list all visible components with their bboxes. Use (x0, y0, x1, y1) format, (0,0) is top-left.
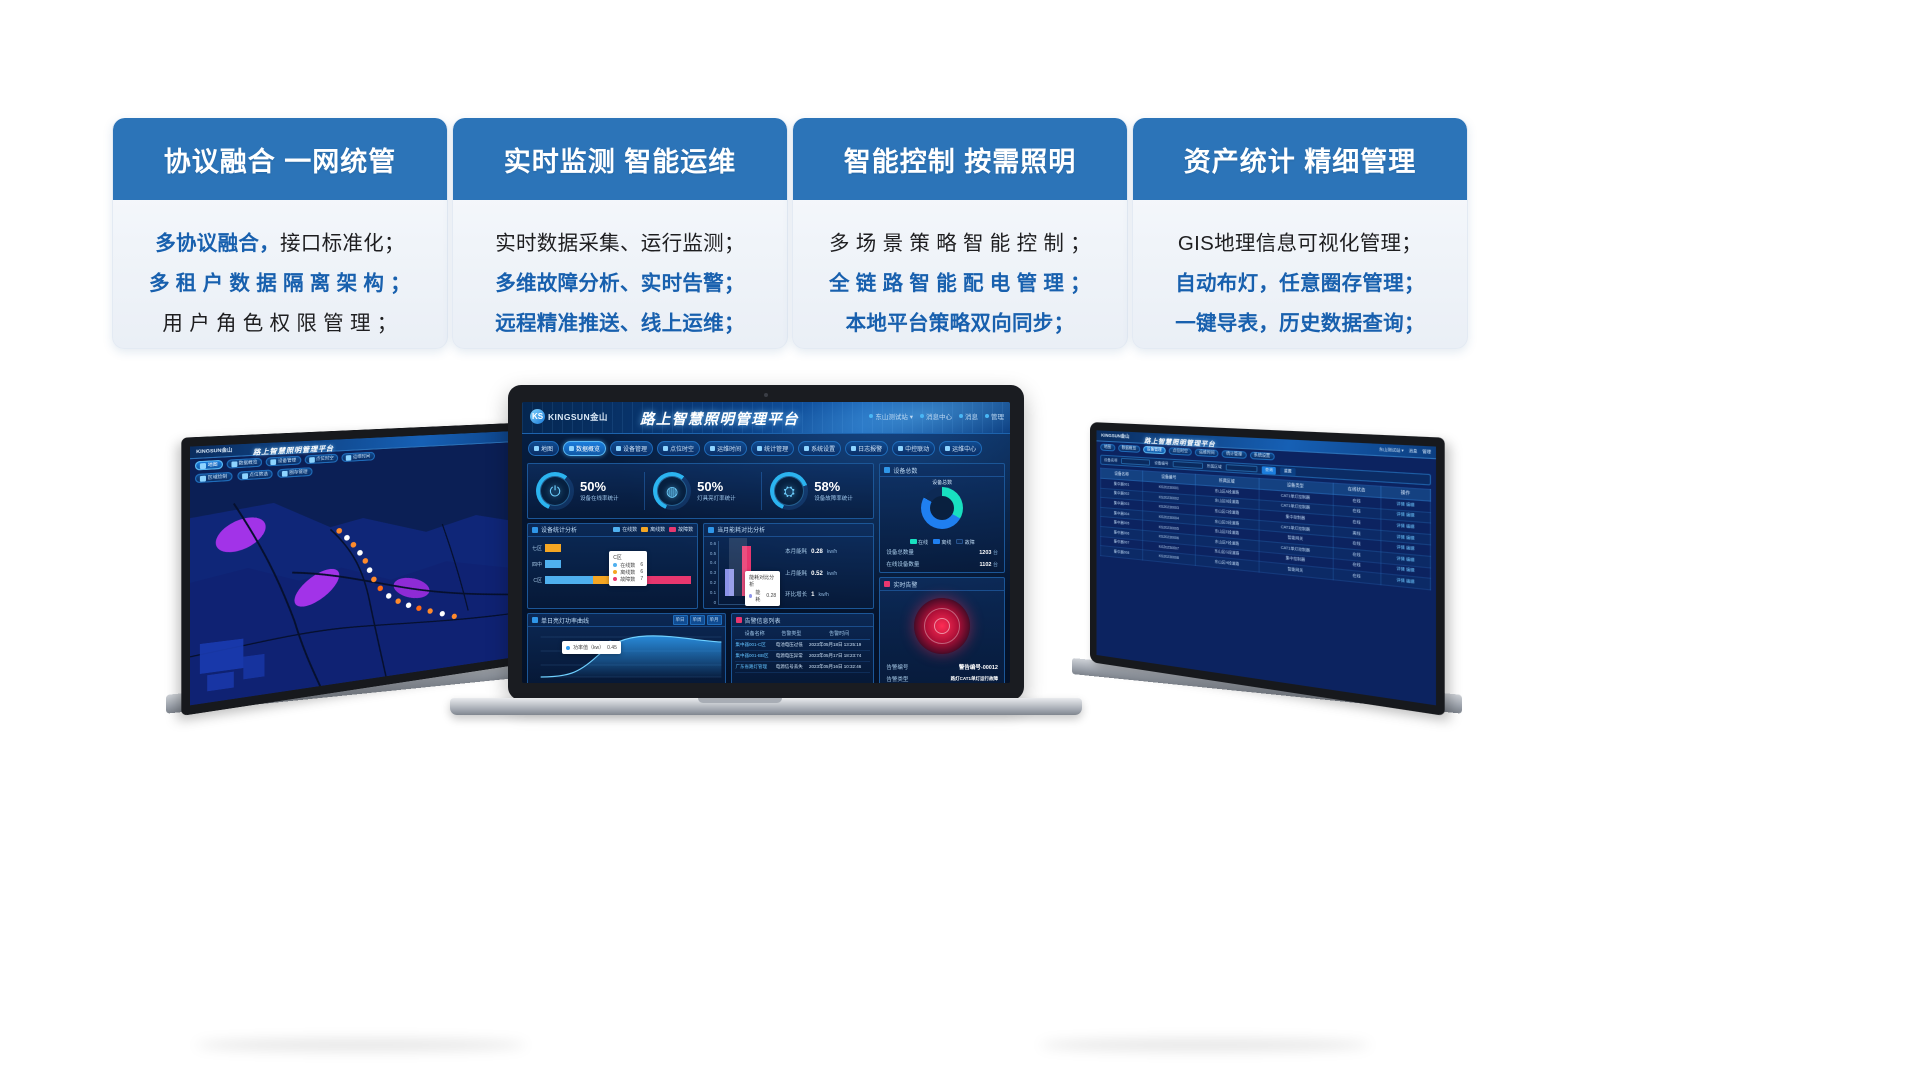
laptop-mockups: KINGSUN金山 路上智慧照明管理平台 地图 数据概览 (0, 355, 1920, 825)
nav-label: 中控联动 (905, 444, 929, 453)
tooltip-dot (566, 646, 570, 650)
table-cell: 集中器001-BB区 (735, 651, 775, 662)
nav-label: 数据概览 (576, 444, 600, 453)
feature-card-4: 资产统计 精细管理 GIS地理信息可视化管理； 自动布灯，任意圈存管理； 一键导… (1132, 118, 1468, 349)
table-cell: 2023年05月18日 13:25:19 (808, 640, 870, 651)
feature-card-2-title: 实时监测 智能运维 (504, 140, 737, 179)
filter-label-name: 设备名称 (1104, 457, 1118, 463)
kv-label: 设备总数量 (886, 548, 914, 556)
tool-icon (945, 446, 950, 451)
y-tick: 0 (707, 600, 716, 605)
tooltip-value: 6 (640, 562, 643, 568)
kpi-text: 58% 设备故障率统计 (814, 480, 853, 502)
tooltip-row: 故障数 7 (613, 576, 643, 583)
feature-card-2-header: 实时监测 智能运维 (453, 118, 787, 200)
feature-card-1-title: 协议融合 一网统管 (164, 140, 397, 179)
nav-item-map[interactable]: 地图 (1100, 444, 1115, 452)
plot-area: 能耗对比分析 能耗 0.28 (718, 541, 780, 605)
tooltip-label: 故障数 (620, 576, 635, 583)
device-icon (270, 459, 276, 465)
header-right-group: 东山测试站 ▾ 消息中心 消息 (869, 411, 1004, 421)
bulb-icon: ◍ (653, 472, 691, 510)
tooltip-dot (613, 570, 617, 574)
nav-item-ops[interactable]: 运维时间 (1195, 449, 1219, 458)
panel-header: 单日亮灯功率曲线 单日 单周 单月 (528, 614, 725, 627)
alarm-table-body: 集中器001-C区电池电压过低2023年05月18日 13:25:19集中器00… (735, 640, 871, 673)
dashboard-side-column: 设备总数 设备总数 (879, 463, 1005, 678)
nav-label: 地图 (208, 461, 218, 468)
row-label: 四中 (530, 561, 542, 568)
power-curve-panel: 单日亮灯功率曲线 单日 单周 单月 (527, 613, 726, 683)
messages-link[interactable]: 消息 (1409, 449, 1418, 455)
device-table-app: KINGSUN金山 路上智慧照明管理平台 东山测试站 ▾ 消息 管理 地图 数据… (1097, 430, 1436, 705)
tooltip-label: 功率值（kw） (573, 644, 604, 651)
table-cell: 集中器001-C区 (735, 640, 775, 651)
donut-chart: 设备总数 (921, 487, 963, 529)
panel-title: 实时告警 (893, 580, 917, 589)
kv-value: 1102 (980, 562, 992, 568)
filter-label-code: 设备编号 (1154, 460, 1168, 466)
table-row[interactable]: 集中器001-C区电池电压过低2023年05月18日 13:25:19 (735, 640, 871, 651)
col-alarm-type: 告警类型 (775, 628, 808, 640)
charts-row: 设备统计分析 在线数 (527, 523, 874, 609)
table-cell: 电池电压过低 (775, 640, 808, 651)
nav-item-settings[interactable]: 系统设置 (1249, 452, 1274, 461)
bars-icon (757, 446, 762, 451)
nav-label: 数据概览 (239, 459, 258, 467)
feature-card-4-line-3: 一键导表，历史数据查询； (1133, 304, 1467, 344)
nav-label: 地图 (541, 444, 553, 453)
kv-unit: 台 (993, 562, 998, 568)
feature-card-1-line-2: 多 租 户 数 据 隔 离 架 构 ； (113, 264, 447, 304)
realtime-alarm-panel: 实时告警 告警编号 警告编号-00012 (879, 577, 1005, 683)
kv-value: 警告编号-00012 (959, 663, 998, 671)
kpi-value: 50% (697, 480, 736, 494)
table-cell: 电源信号丢失 (775, 662, 808, 673)
filter-label-area: 所属区域 (1207, 463, 1222, 469)
nav-item-stats[interactable]: 统计管理 (1222, 450, 1246, 459)
panel-title: 设备总数 (893, 466, 917, 475)
metric-value: 0.28 (811, 549, 823, 555)
kv-alarm-type: 告警类型 路灯CAT1单灯运行故障 (880, 673, 1004, 683)
brand-logo: KS KINGSUN金山 (530, 409, 608, 424)
feature-card-3-body: 多 场 景 策 略 智 能 控 制 ； 全 链 路 智 能 配 电 管 理 ； … (793, 200, 1127, 344)
table-row[interactable]: 广东省路灯管理电源信号丢失2023年05月16日 10:32:46 (735, 662, 871, 673)
tooltip-label: 能耗 (755, 589, 763, 603)
nav-label: 设备管理 (278, 457, 296, 465)
row-label: C区 (530, 577, 542, 584)
feature-card-2-line-3: 远程精准推送、线上运维； (453, 304, 787, 344)
metric-unit: kw/h (819, 592, 829, 598)
chart-legend: 在线数 离线数 (613, 526, 693, 533)
kpi-value: 58% (814, 480, 853, 494)
panel-header: 设备统计分析 在线数 (528, 524, 697, 537)
nav-label: 系统设置 (811, 444, 835, 453)
chart-tooltip: C区 在线数 6 (609, 551, 647, 586)
bar-segment (545, 576, 593, 584)
alert-icon (884, 581, 890, 587)
nav-item-9[interactable]: 运维中心 (939, 441, 982, 456)
metric-label: 上月能耗 (785, 569, 807, 577)
feature-card-2-body: 实时数据采集、运行监测； 多维故障分析、实时告警； 远程精准推送、线上运维； (453, 200, 787, 344)
tooltip-value: 6 (640, 569, 643, 575)
panel-title: 告警信息列表 (745, 616, 781, 625)
link-icon (898, 446, 903, 451)
y-tick: 0.5 (707, 551, 716, 556)
device-table: 设备名称 设备编号 所属区域 设备类型 在线状态 操作 集中器001KS2023… (1100, 468, 1431, 591)
tooltip-label: 离线数 (620, 569, 635, 576)
filter-icon (242, 473, 248, 479)
center-laptop: KS KINGSUN金山 路上智慧照明管理平台 东山测试站 ▾ (450, 385, 1030, 745)
chart-icon (569, 446, 574, 451)
nav-item-2[interactable]: 设备管理 (610, 441, 653, 456)
user-icon (985, 414, 989, 418)
nav-item-4[interactable]: 运维时间 (704, 441, 747, 456)
brand-name: KINGSUN金山 (548, 411, 608, 423)
bar-segment (545, 544, 561, 552)
feature-card-3-header: 智能控制 按需照明 (793, 118, 1127, 200)
feature-card-4-title: 资产统计 精细管理 (1184, 140, 1417, 179)
search-button[interactable]: 查询 (1262, 466, 1276, 474)
admin-link[interactable]: 管理 (985, 411, 1004, 421)
gauge-ring: ⛭ (770, 472, 808, 510)
filter-input-code[interactable] (1172, 461, 1202, 469)
mail-icon (959, 414, 963, 418)
tooltip-value: 0.45 (607, 645, 617, 651)
nav-label: 日志报警 (858, 444, 882, 453)
kv-online-devices: 在线设备数量 1102 台 (880, 558, 1004, 572)
tooltip-value: 0.28 (766, 593, 776, 599)
chart-tooltip: 能耗对比分析 能耗 0.28 (745, 571, 780, 606)
energy-bar-chart: 0.60.50.40.30.20.10 能耗对比分析 (704, 537, 873, 608)
kpi-row: ⏻ 50% 设备在线率统计 (527, 463, 874, 519)
filter-input-area[interactable] (1226, 464, 1258, 472)
metric-value: 0.52 (811, 571, 823, 577)
legend-item: 在线 (910, 539, 928, 546)
nav-item-7[interactable]: 日志报警 (845, 441, 888, 456)
feature-card-3-line-3: 本地平台策略双向同步； (793, 304, 1127, 344)
nav-label: 点位时空 (670, 444, 694, 453)
reset-button[interactable]: 重置 (1281, 467, 1295, 476)
gauge-ring: ⏻ (536, 472, 574, 510)
gauge-ring: ◍ (653, 472, 691, 510)
feature-card-1-header: 协议融合 一网统管 (113, 118, 447, 200)
feature-card-3-line-2: 全 链 路 智 能 配 电 管 理 ； (793, 264, 1127, 304)
header-right-group: 东山测试站 ▾ 消息 管理 (1379, 447, 1431, 455)
feature-card-4-line-1: GIS地理信息可视化管理； (1133, 224, 1467, 264)
nav-label: 统计管理 (764, 444, 788, 453)
legend-swatch (613, 527, 620, 532)
y-axis-ticks: 0.60.50.40.30.20.10 (707, 541, 718, 605)
radar-disc (914, 598, 970, 654)
table-cell: 2023年05月17日 18:23:74 (808, 651, 870, 662)
panel-header: 设备总数 (880, 464, 1004, 477)
y-tick: 0.2 (707, 580, 716, 585)
alarm-table-header-row: 设备名称 告警类型 告警时间 (735, 628, 871, 640)
nav-label: 点位时空 (316, 455, 334, 463)
location-icon (869, 414, 873, 418)
legend-item: 故障数 (669, 526, 693, 533)
kv-label: 告警编号 (886, 663, 908, 671)
alarm-radar (880, 591, 1004, 661)
webcam-icon (764, 393, 768, 397)
pin-icon (663, 446, 668, 451)
panel-title: 当月能耗对比分析 (717, 525, 765, 534)
page-root: 协议融合 一网统管 多协议融合，接口标准化； 多 租 户 数 据 隔 离 架 构… (0, 0, 1920, 1080)
center-laptop-lid: KS KINGSUN金山 路上智慧照明管理平台 东山测试站 ▾ (508, 385, 1024, 700)
feature-card-1-line-1-seg-1: 多协议融合， (155, 232, 280, 255)
nav-item-0[interactable]: 地图 (528, 441, 559, 456)
panel-header: 告警信息列表 (732, 614, 874, 627)
device-total-panel: 设备总数 设备总数 (879, 463, 1005, 573)
right-laptop-screen: KINGSUN金山 路上智慧照明管理平台 东山测试站 ▾ 消息 管理 地图 数据… (1097, 430, 1436, 705)
metric-value: 1 (811, 592, 814, 598)
feature-card-3-line-1: 多 场 景 策 略 智 能 控 制 ； (793, 224, 1127, 264)
bell-icon (851, 446, 856, 451)
dashboard-main-column: ⏻ 50% 设备在线率统计 (527, 463, 874, 678)
nav-item-overview[interactable]: 数据概览 (1118, 444, 1140, 452)
donut-legend: 在线 离线 故障 (880, 539, 1004, 546)
dashboard-header: KS KINGSUN金山 路上智慧照明管理平台 东山测试站 ▾ (522, 402, 1010, 434)
donut-center-label: 设备总数 (932, 479, 952, 486)
metric-unit: kw/h (827, 549, 837, 555)
device-icon (616, 446, 621, 451)
tooltip-dot (613, 563, 617, 567)
power-icon: ⏻ (536, 472, 574, 510)
message-center-link[interactable]: 消息中心 (920, 411, 952, 421)
tooltip-value: 7 (640, 576, 643, 582)
dashboard-title: 路上智慧照明管理平台 (640, 408, 799, 429)
chart-icon (231, 461, 237, 467)
polygon-icon (200, 475, 206, 481)
feature-card-1-line-3: 用 户 角 色 权 限 管 理 ； (113, 304, 447, 344)
circle-icon (282, 470, 288, 476)
kpi-online-rate: ⏻ 50% 设备在线率统计 (528, 472, 639, 510)
chart-tooltip: 功率值（kw） 0.45 (562, 641, 621, 654)
kpi-text: 50% 灯具亮灯率统计 (697, 480, 736, 502)
messages-link[interactable]: 消息 (959, 411, 978, 421)
feature-card-1-body: 多协议融合，接口标准化； 多 租 户 数 据 隔 离 架 构 ； 用 户 角 色… (113, 200, 447, 344)
y-tick: 0.3 (707, 570, 716, 575)
nav-item-1[interactable]: 数据概览 (563, 441, 606, 456)
station-selector[interactable]: 东山测试站 ▾ (869, 411, 913, 421)
donut-ring (921, 487, 963, 529)
feature-card-1-line-1: 多协议融合，接口标准化； (113, 224, 447, 264)
tooltip-row: 离线数 6 (613, 569, 643, 576)
feature-card-3: 智能控制 按需照明 多 场 景 策 略 智 能 控 制 ； 全 链 路 智 能 … (792, 118, 1128, 349)
panel-title: 单日亮灯功率曲线 (541, 616, 589, 625)
right-laptop: KINGSUN金山 路上智慧照明管理平台 东山测试站 ▾ 消息 管理 地图 数据… (1020, 422, 1420, 732)
warning-icon (736, 617, 742, 623)
energy-compare-panel: 当月能耗对比分析 0.60.50.40.30.20.10 (703, 523, 874, 609)
metric-unit: kw/h (827, 571, 837, 577)
kpi-label: 灯具亮灯率统计 (697, 494, 736, 502)
nav-item-8[interactable]: 中控联动 (892, 441, 935, 456)
kv-label: 在线设备数量 (886, 560, 919, 568)
area-chart-graphic (528, 627, 725, 683)
energy-metrics: 本月能耗 0.28 kw/h 上月能耗 0.52 (780, 541, 870, 605)
kv-unit: 台 (993, 550, 998, 556)
alarm-table: 设备名称 告警类型 告警时间 集中器001-C区电池电压过低2023年05月18… (735, 628, 871, 673)
feature-card-4-body: GIS地理信息可视化管理； 自动布灯，任意圈存管理； 一键导表，历史数据查询； (1133, 200, 1467, 344)
panel-header: 当月能耗对比分析 (704, 524, 873, 537)
brand-logo-left: KINGSUN金山 (196, 447, 232, 456)
map-icon (534, 446, 539, 451)
legend-swatch (641, 527, 648, 532)
table-cell: 2023年05月16日 10:32:46 (808, 662, 870, 673)
admin-link[interactable]: 管理 (1422, 449, 1431, 455)
kv-value: 1203 (979, 550, 991, 556)
nav-item-6[interactable]: 系统设置 (798, 441, 841, 456)
chart-icon (532, 527, 538, 533)
y-tick: 0.4 (707, 560, 716, 565)
kpi-lit-rate: ◍ 50% 灯具亮灯率统计 (644, 472, 756, 510)
tab-week[interactable]: 单周 (690, 615, 705, 625)
map-tool-label: 区域绘制 (208, 473, 227, 481)
tower-icon: ⛭ (770, 472, 808, 510)
device-stats-panel: 设备统计分析 在线数 (527, 523, 698, 609)
col-device-name: 设备名称 (735, 628, 775, 640)
pin-icon (309, 457, 315, 463)
play-icon (710, 446, 715, 451)
kv-label: 告警类型 (886, 675, 908, 683)
table-cell: 电源电压异常 (775, 651, 808, 662)
metric-row: 环比增长 1 kw/h (785, 590, 870, 598)
nav-label: 设备管理 (623, 444, 647, 453)
feature-card-1: 协议融合 一网统管 多协议融合，接口标准化； 多 租 户 数 据 隔 离 架 构… (112, 118, 448, 349)
col-alarm-time: 告警时间 (808, 628, 870, 640)
alarm-list-panel: 告警信息列表 设备名称 告警类型 告警时间 (731, 613, 875, 683)
tooltip-label: 在线数 (620, 562, 635, 569)
legend-swatch (956, 539, 963, 544)
pie-icon (884, 467, 890, 473)
table-cell: 广东省路灯管理 (735, 662, 775, 673)
dashboard-app: KS KINGSUN金山 路上智慧照明管理平台 东山测试站 ▾ (522, 402, 1010, 683)
row-label: 七区 (530, 545, 542, 552)
tab-day[interactable]: 单日 (673, 615, 688, 625)
dashboard-body: ⏻ 50% 设备在线率统计 (522, 459, 1010, 683)
panel-header: 实时告警 (880, 578, 1004, 591)
center-laptop-screen: KS KINGSUN金山 路上智慧照明管理平台 东山测试站 ▾ (522, 402, 1010, 683)
nav-item-point[interactable]: 点位时空 (1169, 447, 1192, 456)
stacked-bar-chart: 七区 四中 (528, 537, 697, 608)
tab-month[interactable]: 单月 (707, 615, 722, 625)
feature-card-2: 实时监测 智能运维 实时数据采集、运行监测； 多维故障分析、实时告警； 远程精准… (452, 118, 788, 349)
bars-icon (708, 527, 714, 533)
feature-cards-row: 协议融合 一网统管 多协议融合，接口标准化； 多 租 户 数 据 隔 离 架 构… (0, 0, 1920, 370)
legend-swatch (910, 539, 917, 544)
kpi-label: 设备在线率统计 (580, 494, 619, 502)
kpi-fault-rate: ⛭ 58% 设备故障率统计 (761, 472, 873, 510)
y-tick: 0.1 (707, 590, 716, 595)
brand-logo-right: KINGSUN金山 (1101, 433, 1129, 440)
nav-item-device[interactable]: 设备管理 (1143, 446, 1166, 454)
nav-item-5[interactable]: 统计管理 (751, 441, 794, 456)
feature-card-1-line-1-seg-2: 接口标准化； (280, 232, 405, 255)
left-laptop-shadow (196, 1039, 526, 1051)
nav-label: 运维中心 (952, 444, 976, 453)
legend-swatch (933, 539, 940, 544)
kv-value: 路灯CAT1单灯运行故障 (951, 676, 998, 682)
tooltip-row: 能耗 0.28 (749, 589, 776, 603)
feature-card-4-header: 资产统计 精细管理 (1133, 118, 1467, 200)
legend-item: 故障 (956, 539, 974, 546)
map-icon (200, 462, 206, 468)
legend-swatch (669, 527, 676, 532)
feature-card-4-line-2: 自动布灯，任意圈存管理； (1133, 264, 1467, 304)
kpi-value: 50% (580, 480, 619, 494)
alarm-table-wrap: 设备名称 告警类型 告警时间 集中器001-C区电池电压过低2023年05月18… (732, 627, 874, 674)
kpi-text: 50% 设备在线率统计 (580, 480, 619, 502)
map-tool-label: 点位筛选 (249, 471, 268, 479)
tooltip-title: C区 (613, 554, 643, 561)
table-row[interactable]: 集中器001-BB区电源电压异常2023年05月17日 18:23:74 (735, 651, 871, 662)
right-laptop-shadow (1040, 1039, 1370, 1051)
bar-segment (641, 576, 691, 584)
trackpad-notch (698, 698, 782, 703)
tooltip-row: 在线数 6 (613, 562, 643, 569)
legend-item: 在线数 (613, 526, 637, 533)
kpi-label: 设备故障率统计 (814, 494, 853, 502)
metric-row: 本月能耗 0.28 kw/h (785, 547, 870, 555)
play-icon (346, 455, 351, 461)
donut-chart-wrap: 设备总数 (880, 477, 1004, 539)
nav-label: 运维时间 (353, 453, 370, 460)
gear-icon (804, 446, 809, 451)
panel-title: 设备统计分析 (541, 525, 577, 534)
station-selector[interactable]: 东山测试站 ▾ (1379, 447, 1404, 454)
metric-label: 本月能耗 (785, 547, 807, 555)
kv-alarm-id: 告警编号 警告编号-00012 (880, 661, 1004, 673)
y-tick: 0.6 (707, 541, 716, 546)
feature-card-3-title: 智能控制 按需照明 (844, 140, 1077, 179)
area-chart: 功率值（kw） 0.45 (528, 627, 725, 683)
tooltip-dot (749, 594, 752, 598)
nav-label: 运维时间 (717, 444, 741, 453)
bottom-row: 单日亮灯功率曲线 单日 单周 单月 (527, 613, 874, 683)
filter-input-name[interactable] (1121, 458, 1150, 466)
line-chart-icon (532, 617, 538, 623)
nav-item-map[interactable]: 地图 (195, 460, 222, 471)
kv-total-devices: 设备总数量 1203 台 (880, 546, 1004, 558)
metric-label: 环比增长 (785, 590, 807, 598)
dashboard-nav: 地图数据概览设备管理点位时空运维时间统计管理系统设置日志报警中控联动运维中心 (522, 437, 1010, 459)
legend-item: 离线 (933, 539, 951, 546)
map-tool-label: 圈存管理 (289, 469, 307, 477)
feature-card-2-line-2: 多维故障分析、实时告警； (453, 264, 787, 304)
kingsun-logo-icon: KS (530, 409, 545, 424)
bell-icon (920, 414, 924, 418)
tooltip-row: 功率值（kw） 0.45 (566, 644, 617, 651)
tooltip-dot (613, 577, 617, 581)
tooltip-title: 能耗对比分析 (749, 574, 776, 588)
nav-item-3[interactable]: 点位时空 (657, 441, 700, 456)
range-tabs: 单日 单周 单月 (673, 615, 722, 625)
feature-card-2-line-1: 实时数据采集、运行监测； (453, 224, 787, 264)
legend-item: 离线数 (641, 526, 665, 533)
metric-row: 上月能耗 0.52 kw/h (785, 569, 870, 577)
device-table-grid: 设备名称 设备编号 所属区域 设备类型 在线状态 操作 集中器001KS2023… (1100, 468, 1431, 591)
bar-segment (545, 560, 561, 568)
